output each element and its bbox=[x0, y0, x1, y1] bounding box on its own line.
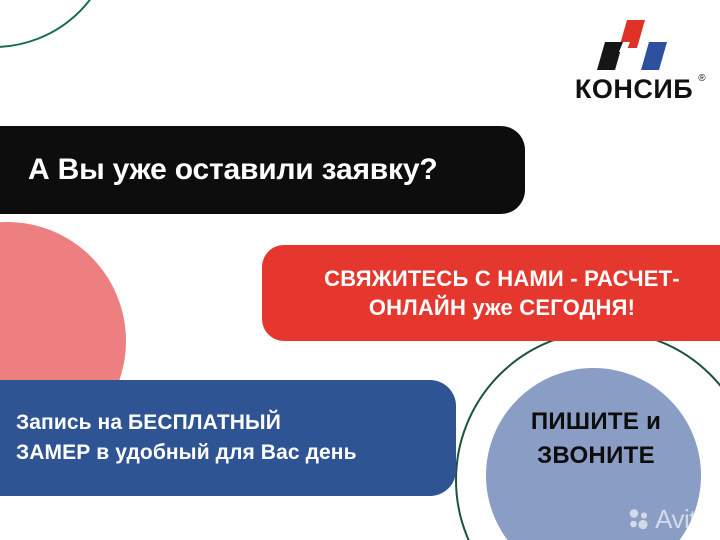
three-parallelograms-logo-icon bbox=[597, 20, 671, 72]
contact-callout-line-1: ПИШИТЕ и bbox=[492, 405, 700, 439]
offer-banner: СВЯЖИТЕСЬ С НАМИ - РАСЧЕТ- ОНЛАЙН уже СЕ… bbox=[262, 245, 720, 341]
headline-banner: А Вы уже оставили заявку? bbox=[0, 126, 525, 214]
brand-logo-text: КОНСИБ bbox=[575, 74, 693, 104]
registered-trademark-icon: ® bbox=[698, 74, 706, 84]
headline-text: А Вы уже оставили заявку? bbox=[28, 153, 437, 187]
ad-banner-canvas: КОНСИБ ® А Вы уже оставили заявку? СВЯЖИ… bbox=[0, 0, 720, 540]
booking-text-line-2: ЗАМЕР в удобный для Вас день bbox=[16, 438, 357, 468]
brand-logo: КОНСИБ ® bbox=[564, 20, 704, 103]
contact-callout: ПИШИТЕ и ЗВОНИТЕ bbox=[492, 405, 700, 472]
offer-text-line-2: ОНЛАЙН уже СЕГОДНЯ! bbox=[284, 293, 720, 322]
offer-text-block: СВЯЖИТЕСЬ С НАМИ - РАСЧЕТ- ОНЛАЙН уже СЕ… bbox=[284, 264, 720, 323]
avito-watermark-text: Avito bbox=[655, 506, 710, 532]
booking-banner: Запись на БЕСПЛАТНЫЙ ЗАМЕР в удобный для… bbox=[0, 380, 456, 496]
brand-logo-wordmark: КОНСИБ ® bbox=[575, 76, 693, 103]
avito-watermark: Avito bbox=[628, 506, 710, 532]
offer-text-line-1: СВЯЖИТЕСЬ С НАМИ - РАСЧЕТ- bbox=[284, 264, 720, 293]
contact-callout-line-2: ЗВОНИТЕ bbox=[492, 439, 700, 473]
decorative-ring-top-left-icon bbox=[0, 0, 116, 48]
avito-dots-logo-icon bbox=[628, 508, 650, 530]
booking-text-block: Запись на БЕСПЛАТНЫЙ ЗАМЕР в удобный для… bbox=[16, 408, 357, 469]
booking-text-line-1: Запись на БЕСПЛАТНЫЙ bbox=[16, 408, 357, 438]
